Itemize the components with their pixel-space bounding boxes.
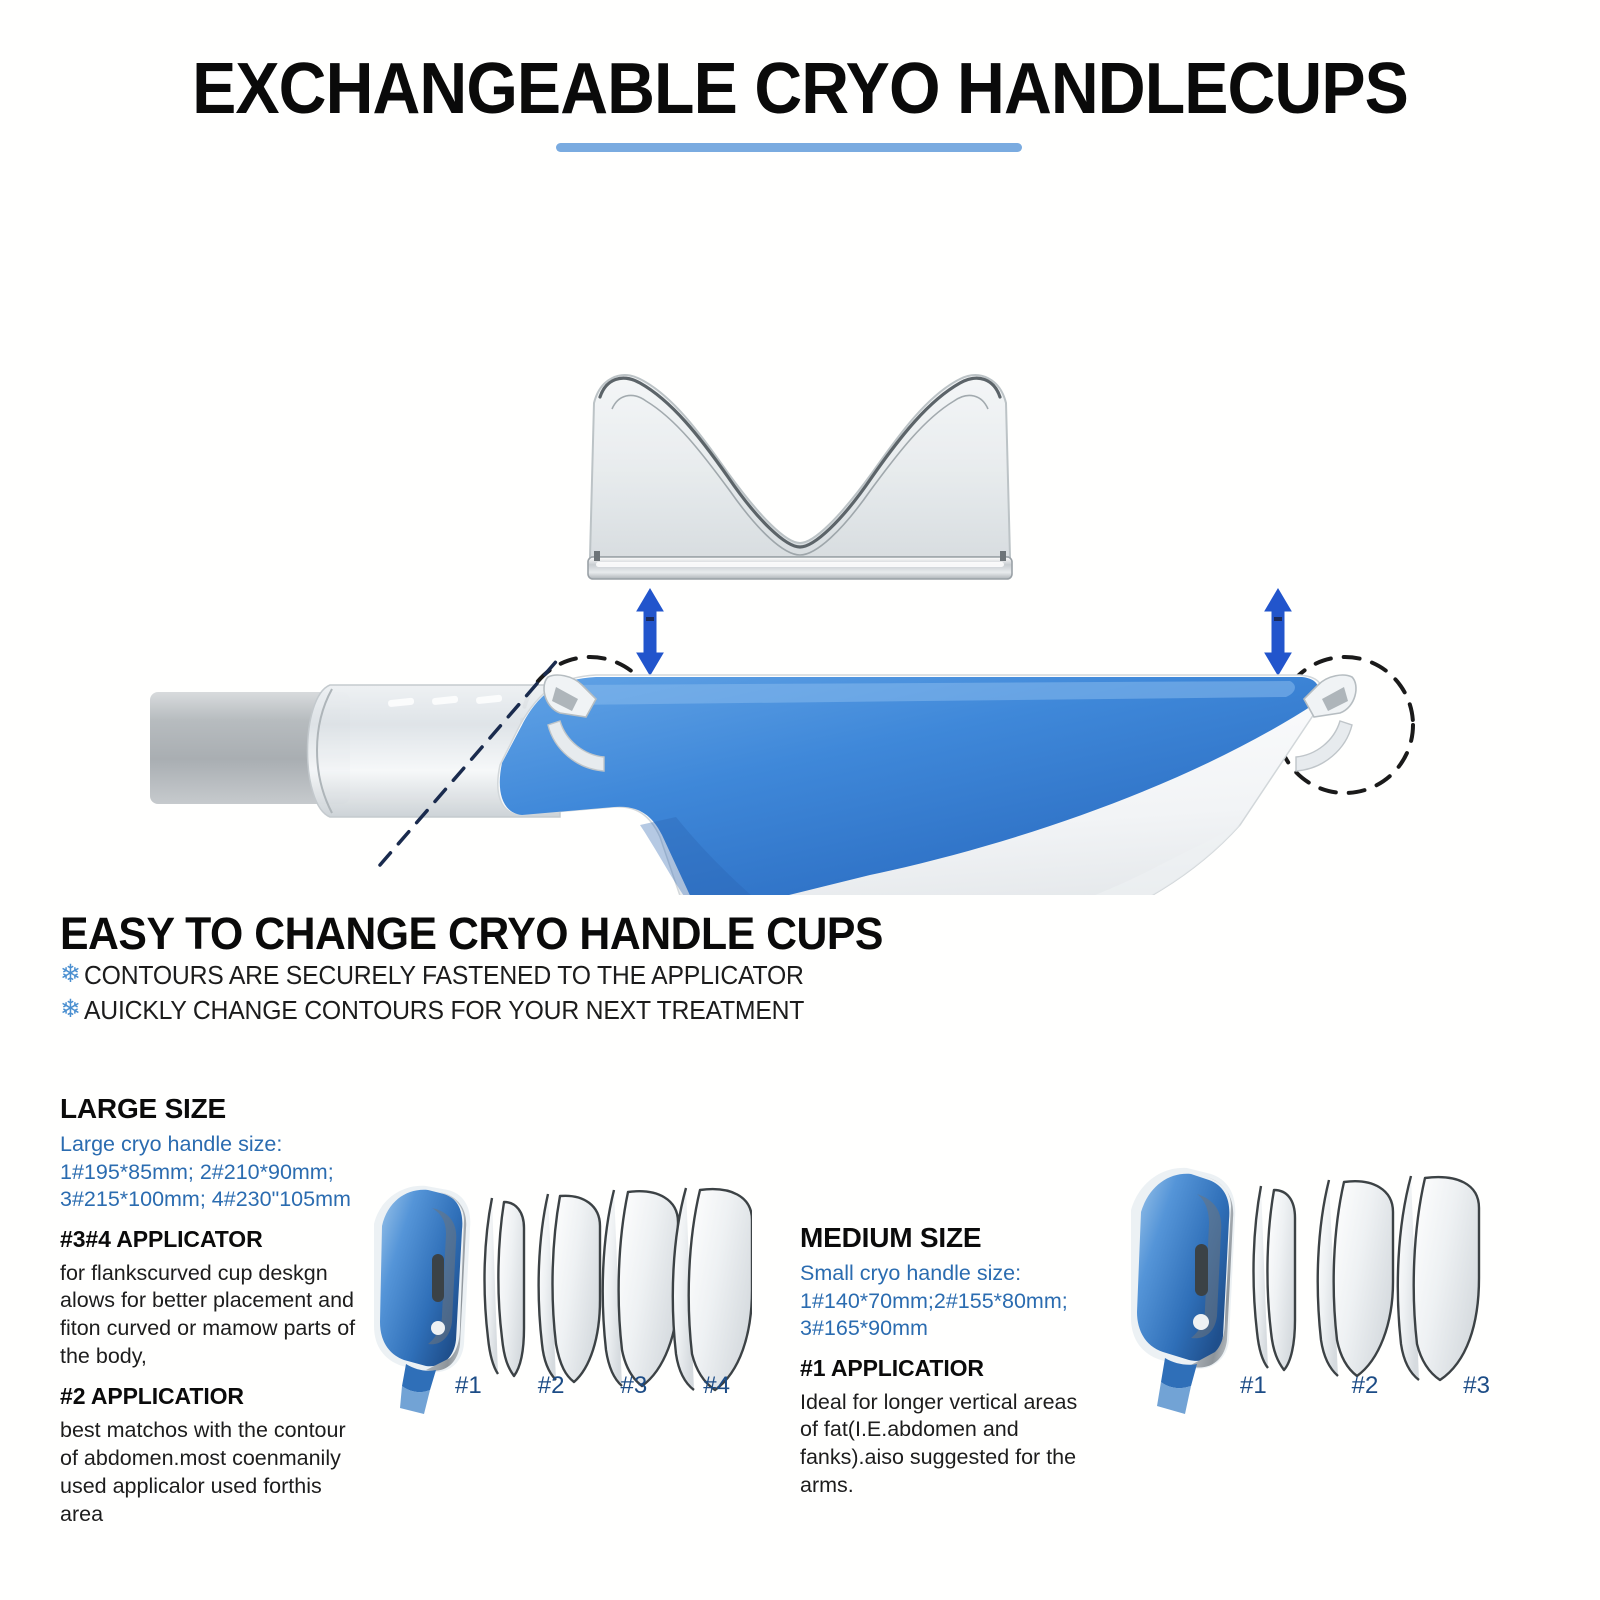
applicator-34-title: #3#4 APPLICATOR: [60, 1226, 360, 1253]
cup-silhouette-1: [485, 1198, 524, 1376]
cup-silhouette-3: [1398, 1176, 1479, 1380]
medium-size-title: MEDIUM SIZE: [800, 1222, 1090, 1254]
hero-illustration: [0, 165, 1600, 895]
cup-silhouette-3: [603, 1190, 678, 1386]
handpiece-photo: [1131, 1168, 1235, 1414]
applicator-2-title: #2 APPLICATIOR: [60, 1383, 360, 1410]
cup-silhouette-4: [673, 1188, 752, 1390]
list-item: ❄ AUICKLY CHANGE CONTOURS FOR YOUR NEXT …: [60, 997, 826, 1026]
caption-cup-1: #1: [1240, 1372, 1267, 1400]
medium-size-text-column: MEDIUM SIZE Small cryo handle size: 1#14…: [800, 1222, 1090, 1512]
infographic-page: EXCHANGEABLE CRYO HANDLECUPS: [0, 0, 1600, 1600]
hero-svg: [0, 165, 1600, 895]
list-item: ❄ CONTOURS ARE SECURELY FASTENED TO THE …: [60, 962, 826, 991]
applicator-1-body: Ideal for longer vertical areas of fat(I…: [800, 1389, 1090, 1501]
bullet-text: AUICKLY CHANGE CONTOURS FOR YOUR NEXT TR…: [84, 997, 804, 1026]
cup-silhouette-2: [539, 1194, 600, 1382]
blue-cryo-applicator: [498, 675, 1356, 895]
caption-cup-3: #3: [1463, 1372, 1490, 1400]
cup-silhouette-group: [1254, 1176, 1479, 1380]
transparent-cryo-cup: [588, 375, 1012, 579]
spec-line: 3#215*100mm; 4#230"105mm: [60, 1186, 360, 1214]
page-title: EXCHANGEABLE CRYO HANDLECUPS: [64, 48, 1536, 130]
feature-bullet-list: ❄ CONTOURS ARE SECURELY FASTENED TO THE …: [60, 962, 826, 1032]
caption-cup-1: #1: [455, 1372, 482, 1400]
large-size-specs: Large cryo handle size: 1#195*85mm; 2#21…: [60, 1131, 360, 1214]
large-size-title: LARGE SIZE: [60, 1093, 360, 1125]
spec-line: 1#195*85mm; 2#210*90mm;: [60, 1159, 360, 1187]
caption-cup-3: #3: [621, 1372, 648, 1400]
applicator-34-body: for flankscurved cup deskgn alows for be…: [60, 1260, 360, 1372]
applicator-1-title: #1 APPLICATIOR: [800, 1355, 1090, 1382]
attachment-direction-arrow: [637, 589, 1291, 675]
cup-silhouette-1: [1254, 1186, 1295, 1370]
medium-size-captions: #1 #2 #3: [1240, 1372, 1490, 1400]
snowflake-icon: ❄: [60, 962, 81, 987]
caption-cup-2: #2: [1352, 1372, 1379, 1400]
applicator-2-body: best matchos with the contour of abdomen…: [60, 1417, 360, 1529]
section-heading-easy-change: EASY TO CHANGE CRYO HANDLE CUPS: [60, 908, 883, 960]
caption-cup-2: #2: [538, 1372, 565, 1400]
cup-silhouette-group: [485, 1188, 752, 1390]
spec-line: Small cryo handle size:: [800, 1260, 1090, 1288]
title-underline-rule: [556, 143, 1022, 152]
large-size-captions: #1 #2 #3 #4: [455, 1372, 730, 1400]
caption-cup-4: #4: [703, 1372, 730, 1400]
large-size-text-column: LARGE SIZE Large cryo handle size: 1#195…: [60, 1093, 360, 1541]
spec-line: 3#165*90mm: [800, 1315, 1090, 1343]
snowflake-icon: ❄: [60, 997, 81, 1022]
spec-line: Large cryo handle size:: [60, 1131, 360, 1159]
bullet-text: CONTOURS ARE SECURELY FASTENED TO THE AP…: [84, 962, 804, 991]
medium-size-specs: Small cryo handle size: 1#140*70mm;2#155…: [800, 1260, 1090, 1343]
applicator-hose: [150, 685, 560, 817]
cup-silhouette-2: [1318, 1180, 1393, 1376]
spec-line: 1#140*70mm;2#155*80mm;: [800, 1288, 1090, 1316]
